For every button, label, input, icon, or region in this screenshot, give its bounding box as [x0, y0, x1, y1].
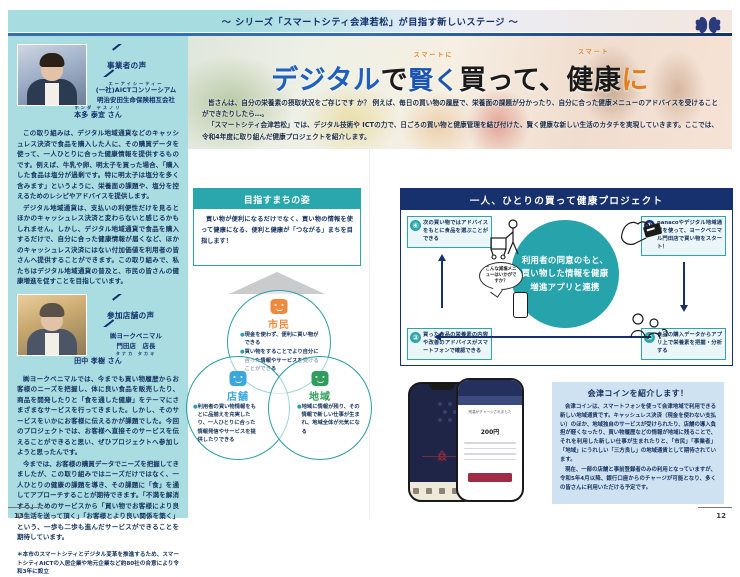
phone-payment-screen: 残高がチャージされました 200円 [456, 378, 524, 502]
page-number-right: 12 [716, 512, 726, 520]
flow-arrow-up-left [441, 260, 443, 308]
coin-body: 会津コインは、スマートフォンを使って会津地域で利用できる新しい地域通貨です。キャ… [560, 403, 716, 493]
hero-lead-text: 皆さんは、自分の栄養素の摂取状況をご存じです か？ 例えば、毎日の買い物の履歴で… [202, 98, 718, 143]
interview-body-2: ㈱ヨークベニマルでは、今までも買い物履歴からお客様のニーズを把握し、体に良い食品… [17, 374, 179, 543]
page-number-left: 13 [14, 512, 24, 520]
detail-row [464, 459, 516, 461]
flow-arrow-left-bottom [441, 336, 651, 338]
paragraph: この取り組みは、デジタル地域通貨などのキャッシュレス決済で食品を購入した人に、そ… [17, 128, 179, 202]
shopper-with-cart-icon [489, 218, 531, 264]
family-icon [626, 310, 670, 342]
bullet: ●現金を使わず、便利に買い物ができる [240, 331, 320, 347]
app-screenshot-mockup: 残高がチャージされました 200円 [402, 378, 542, 506]
sidebar-footnote: ＊本市のスマートシティとデジタル変革を推進するため、スマートシティAiCTの入居… [17, 551, 179, 577]
vision-heading: 目指すまちの姿 [194, 189, 360, 209]
venn-bullets-store: ●利用者の買い物情報をもとに品揃えを充実したり、一人ひとりに合った情報発信やサー… [193, 403, 259, 445]
project-flow-panel: 一人、ひとりの買って健康プロジェクト 利用者の同意のもと、買い物した情報を健康増… [400, 188, 733, 366]
portrait-shirt [45, 333, 59, 355]
bullet: ●利用者の買い物情報をもとに品揃えを充実したり、一人ひとりに合った情報発信やサー… [193, 403, 259, 444]
hand-with-card-icon [618, 216, 664, 250]
title-kashikoku: 賢く [408, 66, 459, 95]
interview-tag-1: 事業者の声 [107, 60, 179, 71]
portrait-hair [40, 303, 65, 317]
lead-paragraph: 「スマートシティ会津若松」では、デジタル技術や ICTの力で、日ごろの買い物と健… [202, 120, 718, 143]
decorative-slash [112, 294, 126, 301]
title-de: で [381, 65, 409, 96]
flow-step-3: ③ 買った食品の栄養素の内容や改善のアドバイスがスマートフォンで確認できる [407, 328, 492, 360]
series-header-band: ～ シリーズ「スマートシティ会津若松」が目指す新しいステージ ～ [8, 10, 732, 32]
app-logo-icon [433, 450, 451, 464]
page-title: デジタルでスマートに賢く買って、スマート健康に [188, 58, 732, 97]
interview-block-2: 参加店舗の声 ㈱ヨークベニマル 門田店 店長 タナカ タカキ 田中 孝樹 さん … [17, 294, 179, 577]
speech-bubble: こんな減塩メニューはいかがですか？ [479, 262, 523, 290]
ruby-smart-ni: スマートに [414, 50, 454, 59]
vision-body: 買い物が便利になるだけでなく、買い物の情報を使って健康になる、便利と健康が「つな… [194, 209, 360, 254]
nav-item-home[interactable] [413, 488, 419, 494]
amount-value: 200 [481, 429, 494, 436]
interview-name-2: 田中 孝樹 さん [17, 356, 179, 367]
vision-paragraph: 買い物が便利になるだけでなく、買い物の情報を使って健康になる、便利と健康が「つな… [201, 215, 353, 248]
series-header-text: ～ シリーズ「スマートシティ会津若松」が目指す新しいステージ ～ [222, 14, 519, 28]
coin-paragraph: 現在、一部の店舗と事前登録者のみの利用となっていますが、令和5年4月以降、銀行口… [560, 466, 716, 492]
phone-screen-title-bar [458, 396, 522, 405]
flow-body: 利用者の同意のもと、買い物した情報を健康増進アプリと連携 ① nanacoやデジ… [401, 210, 732, 366]
ruby-smart: スマート [578, 47, 610, 56]
title-katte: 買って、 [459, 65, 566, 96]
paragraph: デジタル地域通貨は、支払いの利便性だけを見るとほかのキャッシュレス決済と変わらな… [17, 203, 179, 287]
portrait-shirt [45, 83, 59, 105]
vision-panel: 目指すまちの姿 買い物が便利になるだけでなく、買い物の情報を使って健康になる、便… [193, 188, 361, 266]
coin-heading: 会津コインを紹介します！ [560, 388, 716, 399]
interview-body-1: この取り組みは、デジタル地域通貨などのキャッシュレス決済で食品を購入した人に、そ… [17, 128, 179, 287]
step-text: nanacoやデジタル地域通貨を使って、ヨークベニマル門田店で買い物をスタート！ [657, 220, 722, 252]
lead-paragraph: 皆さんは、自分の栄養素の摂取状況をご存じです か？ 例えば、毎日の買い物の履歴で… [202, 98, 718, 121]
title-digital: デジタル [271, 65, 380, 96]
nav-item-charge[interactable] [426, 488, 432, 494]
coin-paragraph: 会津コインは、スマートフォンを使って会津地域で利用できる新しい地域通貨です。キャ… [560, 403, 716, 464]
nav-item-pay[interactable] [439, 488, 445, 494]
balance-amount: 200円 [458, 420, 522, 438]
step-text: 次の買い物ではアドバイスをもとに食品を選ぶことができる [423, 220, 488, 244]
region-face-icon [312, 371, 329, 386]
interview-name-1: 本多 泰宜 さん [17, 110, 179, 121]
paragraph: ㈱ヨークベニマルでは、今までも買い物履歴からお客様のニーズを把握し、体に良い食品… [17, 374, 179, 458]
step-number: ③ [410, 332, 421, 343]
title-ni: に [621, 65, 649, 96]
interview-sidebar: 事業者の声 エーアイシーティー (一社)AiCTコンソーシアム 明治安田生命保険… [8, 36, 188, 518]
store-face-icon [230, 371, 247, 386]
page-number-rule-right [698, 507, 732, 508]
step-number: ④ [410, 220, 421, 231]
detail-row [464, 453, 516, 455]
avatar [17, 294, 87, 356]
paragraph: 今までは、お客様の購買データでニーズを把握してきましたが、この取り組みではニーズ… [17, 459, 179, 543]
amount-unit: 円 [493, 429, 499, 436]
venn-title-region: 地域 [269, 388, 371, 403]
title-kenkou: 健康 [566, 65, 621, 96]
venn-title-citizen: 市民 [228, 316, 330, 331]
detail-row [464, 442, 516, 444]
venn-circle-region: 地域 ●地域に情報が残り、その情報で新しい仕事が生まれ、地域全体が元気になる [268, 356, 372, 460]
bullet: ●地域に情報が残り、その情報で新しい仕事が生まれ、地域全体が元気になる [297, 403, 363, 436]
flow-arrow-down-right [683, 262, 685, 306]
phone-status-bar [458, 380, 522, 396]
decorative-slash [112, 44, 126, 51]
magazine-spread: ～ シリーズ「スマートシティ会津若松」が目指す新しいステージ ～ 事業者の声 エ [0, 0, 740, 526]
smartphone-icon [513, 292, 528, 318]
flow-heading: 一人、ひとりの買って健康プロジェクト [401, 189, 732, 210]
venn-bullets-region: ●地域に情報が残り、その情報で新しい仕事が生まれ、地域全体が元気になる [297, 403, 363, 437]
hero-banner: デジタルでスマートに賢く買って、スマート健康に 皆さんは、自分の栄養素の摂取状況… [188, 36, 732, 149]
interview-block-1: 事業者の声 エーアイシーティー (一社)AiCTコンソーシアム 明治安田生命保険… [17, 44, 179, 287]
close-button[interactable] [468, 473, 512, 482]
portrait-hair [40, 53, 65, 67]
flow-step-4: ④ 次の買い物ではアドバイスをもとに食品を選ぶことができる [407, 216, 492, 248]
interview-tag-2: 参加店舗の声 [107, 310, 179, 321]
detail-row [464, 448, 516, 450]
citizen-face-icon [271, 299, 288, 314]
aizu-coin-callout: 会津コインを紹介します！ 会津コインは、スマートフォンを使って会津地域で利用でき… [552, 382, 724, 504]
detail-rows [464, 442, 516, 464]
balance-caption: 残高がチャージされました [458, 410, 522, 415]
phone-notch [429, 384, 455, 390]
page-number-rule-left [8, 507, 42, 508]
venn-diagram: 市民 ●現金を使わず、便利に買い物ができる ●買い物をすることでより自分に合った… [186, 290, 372, 468]
avatar [17, 44, 87, 106]
